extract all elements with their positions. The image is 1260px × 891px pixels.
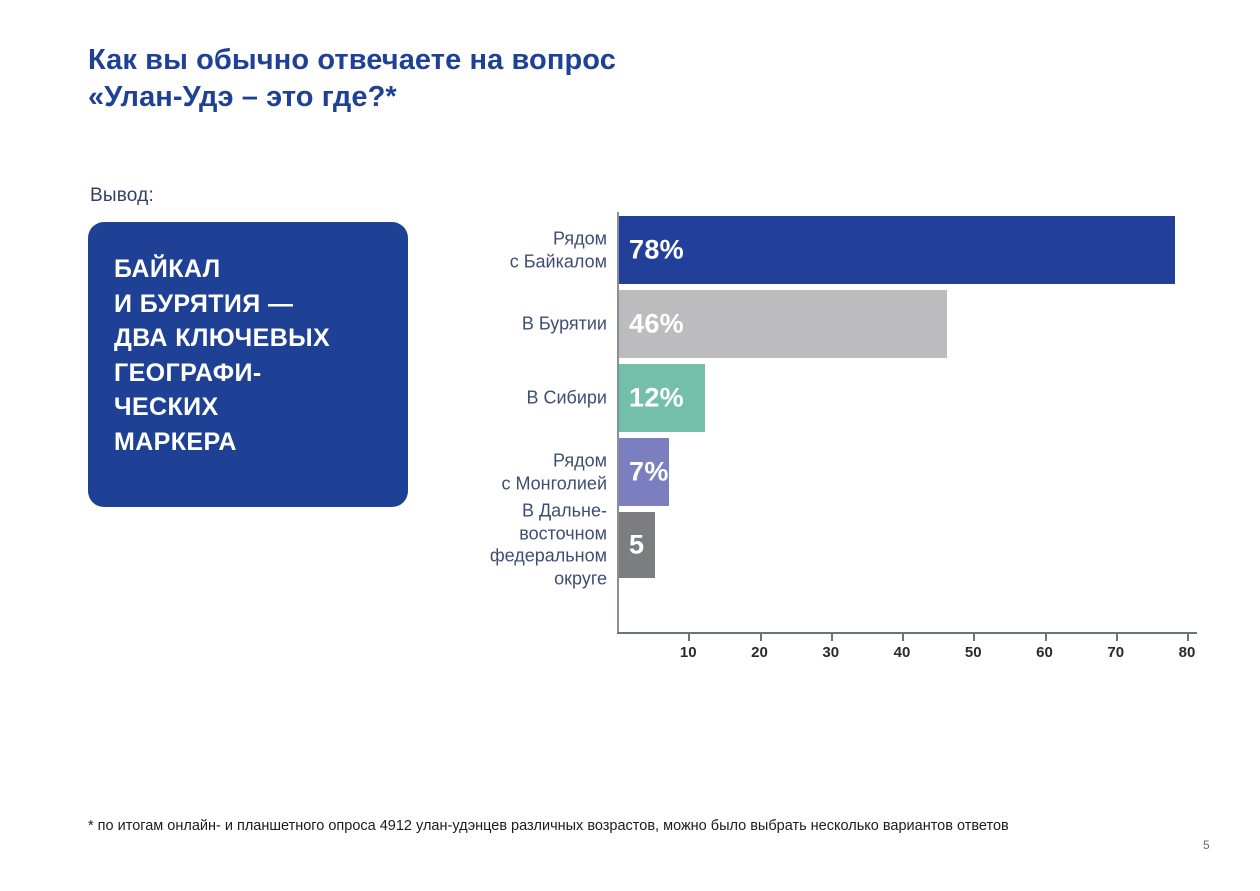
- x-axis-tick: [1045, 632, 1047, 641]
- bar-row: В Сибири12%: [617, 364, 1187, 432]
- bar-value-label: 46%: [629, 309, 684, 340]
- bar: 5: [619, 512, 655, 578]
- x-axis-tick-label: 10: [680, 644, 697, 661]
- callout-line-3: ДВА КЛЮЧЕВЫХ: [114, 321, 408, 356]
- footnote: * по итогам онлайн- и планшетного опроса…: [88, 818, 1009, 834]
- callout-line-4: ГЕОГРАФИ-: [114, 356, 408, 391]
- bar-category-label: В Сибири: [437, 387, 607, 410]
- bar-row: Рядом с Байкалом78%: [617, 216, 1187, 284]
- x-axis-tick-label: 70: [1107, 644, 1124, 661]
- conclusion-label: Вывод:: [90, 185, 154, 207]
- bar-value-label: 5: [629, 530, 644, 561]
- x-axis-tick: [760, 632, 762, 641]
- bar: 78%: [619, 216, 1175, 284]
- bar-category-label: В Дальне- восточном федеральном округе: [437, 500, 607, 591]
- callout-line-2: И БУРЯТИЯ —: [114, 287, 408, 322]
- bar-category-label: В Бурятии: [437, 313, 607, 336]
- callout-line-5: ЧЕСКИХ: [114, 390, 408, 425]
- page-title: Как вы обычно отвечаете на вопрос «Улан-…: [88, 42, 808, 116]
- x-axis-tick-label: 80: [1179, 644, 1196, 661]
- bar: 7%: [619, 438, 669, 506]
- x-axis-tick-label: 20: [751, 644, 768, 661]
- bar-value-label: 12%: [629, 383, 684, 414]
- bar-value-label: 78%: [629, 235, 684, 266]
- x-axis-tick-label: 40: [894, 644, 911, 661]
- bar-category-label: Рядом с Монголией: [437, 449, 607, 494]
- page-number: 5: [1203, 838, 1210, 852]
- x-axis-tick: [688, 632, 690, 641]
- callout-box: БАЙКАЛ И БУРЯТИЯ — ДВА КЛЮЧЕВЫХ ГЕОГРАФИ…: [88, 222, 408, 507]
- x-axis-line: [617, 632, 1197, 634]
- x-axis-tick-label: 50: [965, 644, 982, 661]
- bar-row: В Дальне- восточном федеральном округе5: [617, 512, 1187, 578]
- x-axis-tick: [902, 632, 904, 641]
- bar-row: В Бурятии46%: [617, 290, 1187, 358]
- x-axis-tick: [831, 632, 833, 641]
- bar-value-label: 7%: [629, 457, 669, 488]
- callout-line-1: БАЙКАЛ: [114, 252, 408, 287]
- bar-category-label: Рядом с Байкалом: [437, 227, 607, 272]
- page-title-line-1: Как вы обычно отвечаете на вопрос: [88, 42, 808, 79]
- x-axis-tick: [973, 632, 975, 641]
- bar: 46%: [619, 290, 947, 358]
- bar-row: Рядом с Монголией7%: [617, 438, 1187, 506]
- page-title-line-2: «Улан-Удэ – это где?*: [88, 79, 808, 116]
- x-axis-tick: [1116, 632, 1118, 641]
- bar-chart: Рядом с Байкалом78%В Бурятии46%В Сибири1…: [440, 212, 1230, 662]
- x-axis-tick-label: 30: [822, 644, 839, 661]
- bar: 12%: [619, 364, 705, 432]
- x-axis-tick-label: 60: [1036, 644, 1053, 661]
- callout-line-6: МАРКЕРА: [114, 425, 408, 460]
- x-axis-tick: [1187, 632, 1189, 641]
